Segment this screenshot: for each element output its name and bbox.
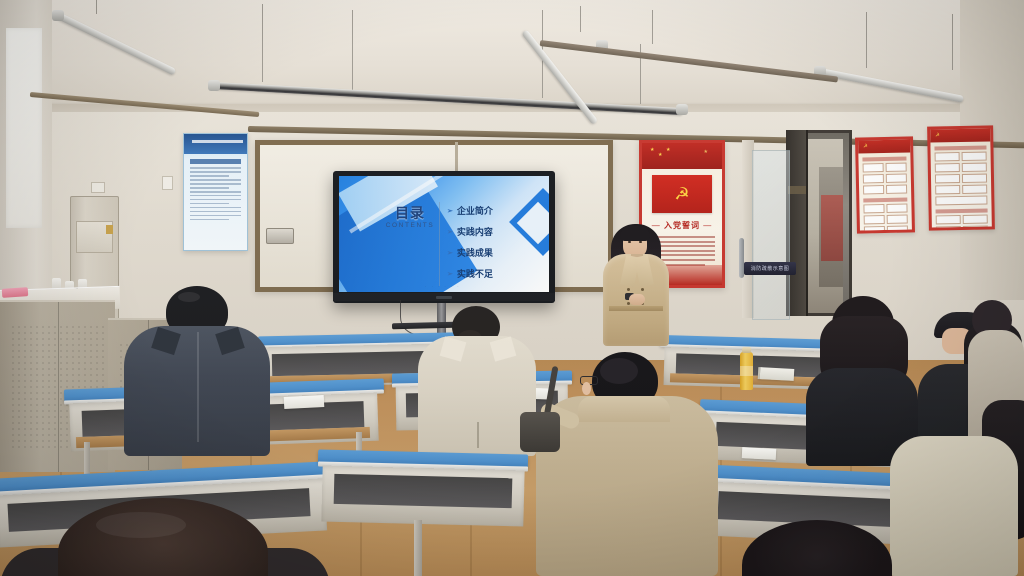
- jacket-back-vent: [477, 422, 479, 448]
- flowchart-nodes-2: [936, 215, 989, 231]
- trench-coat: [603, 254, 669, 346]
- coat-lapel-right: [634, 255, 654, 287]
- corridor-beyond: [803, 139, 843, 313]
- door-glass-band: [788, 186, 806, 194]
- flowchart-nodes: [863, 163, 908, 195]
- slide-agenda-item-4: ➢ 实践不足: [447, 263, 493, 284]
- party-flag: ☭: [652, 175, 712, 213]
- open-notebook[interactable]: [758, 367, 795, 381]
- audience-man-front-left: [124, 286, 270, 456]
- corridor-red-display: [821, 195, 843, 261]
- slide-title-block: 目录 CONTENTS: [379, 206, 441, 229]
- classroom-photo: 目录 CONTENTS ➢ 企业简介 ➢ 实践内容 ➢ 实践成果 ➢: [0, 0, 1024, 576]
- jacket-collar-right: [490, 336, 517, 361]
- bullet-arrow-icon: ➢: [447, 228, 453, 236]
- audience-cream-right: [890, 400, 1024, 576]
- audience-khaki-coat-center: [536, 352, 718, 576]
- left-window: [6, 28, 42, 228]
- light-switch[interactable]: [162, 176, 173, 190]
- bullet-arrow-icon: ➢: [447, 249, 453, 257]
- suit-jacket: [124, 326, 270, 456]
- glass-partition: [752, 150, 790, 320]
- wool-coat: [536, 396, 718, 576]
- left-wall: [0, 0, 52, 330]
- poster-subtitle-2: [863, 198, 907, 203]
- presentation-slide: 目录 CONTENTS ➢ 企业简介 ➢ 实践内容 ➢ 实践成果 ➢: [339, 176, 549, 292]
- poster-subtitle-2: [936, 209, 988, 214]
- bullet-arrow-icon: ➢: [447, 207, 453, 215]
- yellow-thermos-bottle[interactable]: [740, 352, 753, 390]
- board-side-device: [266, 228, 294, 244]
- party-procedure-flowchart-b: ☭: [927, 125, 995, 230]
- pink-cloth: [2, 287, 29, 298]
- hammer-sickle-icon: ☭: [674, 186, 689, 203]
- hammer-sickle-icon: ☭: [935, 133, 940, 138]
- cream-jacket: [418, 336, 536, 456]
- slide-agenda-list: ➢ 企业简介 ➢ 实践内容 ➢ 实践成果 ➢ 实践不足: [447, 200, 493, 284]
- hammer-sickle-icon: ☭: [863, 144, 868, 149]
- shoulder-bag[interactable]: [520, 412, 560, 452]
- slide-agenda-item-2: ➢ 实践内容: [447, 221, 493, 242]
- ear: [582, 382, 591, 395]
- ac-badge: [106, 225, 113, 234]
- jacket-back-seam: [197, 332, 199, 442]
- slide-title-en: CONTENTS: [379, 222, 441, 229]
- presenter: [597, 218, 675, 346]
- blue-info-poster: [183, 133, 248, 251]
- star-icon: ★: [650, 148, 654, 153]
- paper-sheet[interactable]: [284, 395, 325, 409]
- thermos-label: [740, 366, 753, 376]
- poster-header-band: ★ ★ ★ ★: [642, 143, 722, 169]
- slide-agenda-label-4: 实践不足: [457, 267, 493, 280]
- evacuation-plan-sign: 消防疏散示意图: [744, 262, 796, 275]
- star-icon: ★: [666, 148, 670, 153]
- slide-agenda-item-1: ➢ 企业简介: [447, 200, 493, 221]
- jacket-collar-left: [440, 336, 467, 361]
- poster-subtitle: [934, 146, 986, 151]
- star-icon: ★: [704, 150, 708, 155]
- party-procedure-flowchart-a: ☭: [855, 136, 915, 233]
- flowchart-nodes: [935, 152, 988, 206]
- smart-tv-display[interactable]: 目录 CONTENTS ➢ 企业简介 ➢ 实践内容 ➢ 实践成果 ➢: [333, 171, 555, 303]
- poster-subtitle: [862, 157, 906, 162]
- audience-cream-jacket: [418, 306, 536, 456]
- hands: [629, 294, 645, 305]
- star-icon: ★: [658, 153, 662, 158]
- wall-outlet[interactable]: [91, 182, 105, 193]
- title-dash-right: —: [703, 221, 712, 230]
- hair-fringe: [620, 226, 650, 241]
- tv-bottom-bezel: [333, 293, 555, 301]
- bullet-arrow-icon: ➢: [447, 270, 453, 278]
- slide-agenda-label-1: 企业简介: [457, 204, 493, 217]
- slide-agenda-label-3: 实践成果: [457, 246, 493, 259]
- flowchart-nodes-2: [863, 204, 908, 234]
- thermos-cap: [742, 347, 751, 353]
- paper-sheet[interactable]: [742, 447, 777, 460]
- jacket-collar-left: [151, 327, 181, 355]
- jacket-collar-right: [215, 327, 245, 355]
- hair-bun: [600, 358, 638, 384]
- poster-header-band: ☭: [858, 139, 910, 153]
- tv-logo: [436, 296, 452, 299]
- poster-header-band: ☭: [930, 128, 990, 142]
- coat-belt: [609, 306, 663, 311]
- coat-collar: [578, 396, 670, 422]
- slide-agenda-item-3: ➢ 实践成果: [447, 242, 493, 263]
- slide-agenda-label-2: 实践内容: [457, 225, 493, 238]
- slide-footer-watermark: · · · · · ·: [425, 284, 461, 289]
- cream-top: [890, 436, 1018, 576]
- slide-title-cn: 目录: [379, 206, 441, 220]
